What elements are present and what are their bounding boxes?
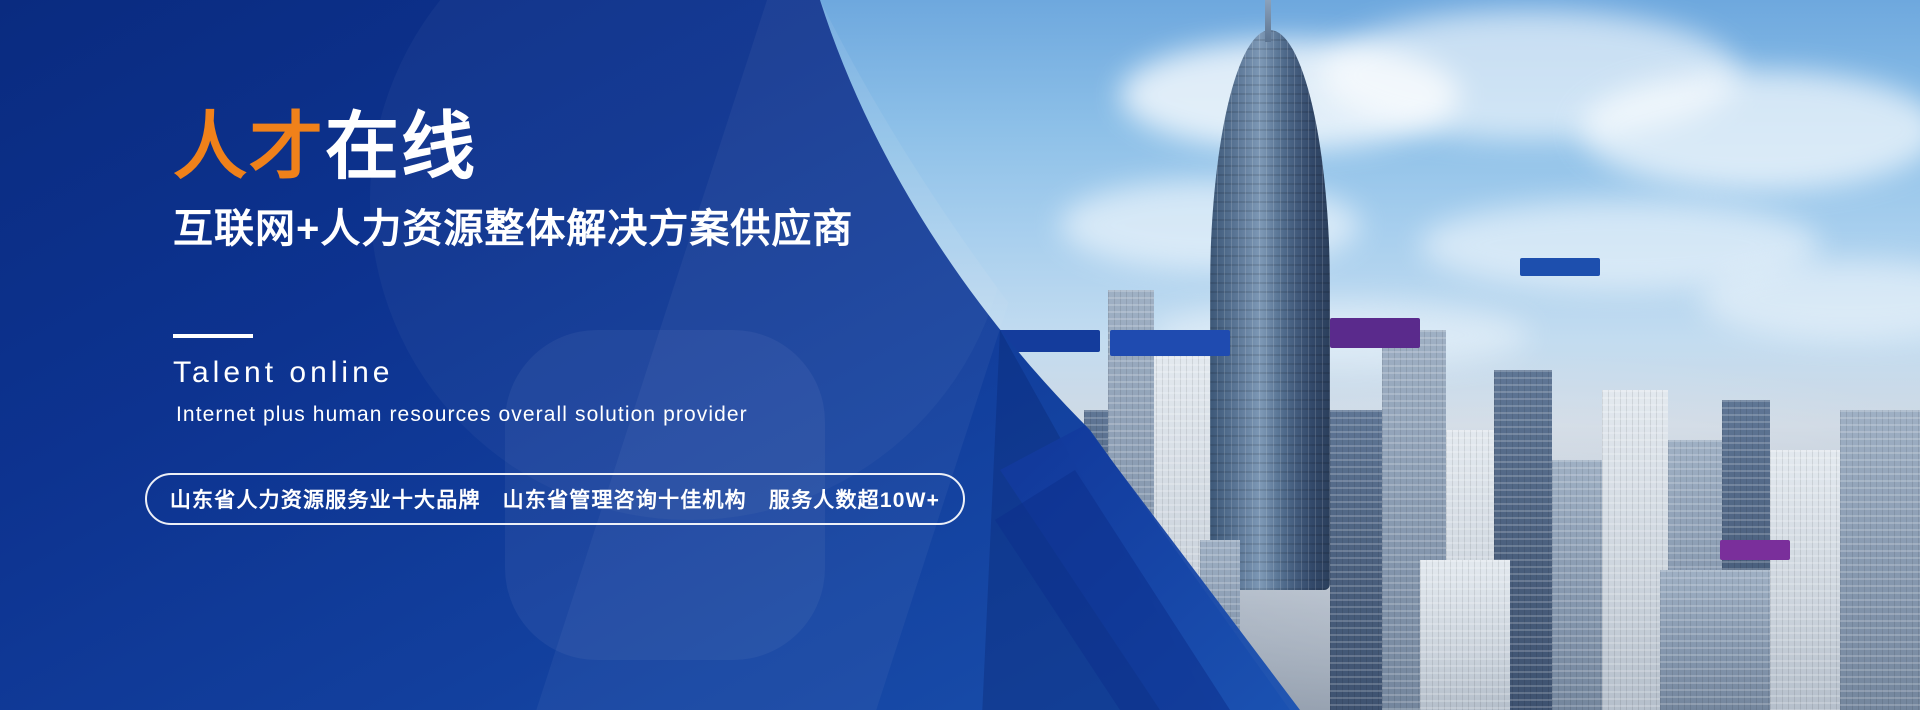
badge-item-2: 山东省管理咨询十佳机构: [503, 489, 747, 512]
page-title: 人才在线: [173, 110, 477, 184]
divider-rule: [173, 334, 253, 338]
credentials-badge: 山东省人力资源服务业十大品牌山东省管理咨询十佳机构服务人数超10W+: [145, 473, 965, 525]
page-subtitle: 互联网+人力资源整体解决方案供应商: [173, 196, 853, 254]
hero-banner: 人才在线 互联网+人力资源整体解决方案供应商 Talent online Int…: [0, 0, 1920, 710]
title-highlight: 人才: [173, 105, 325, 188]
title-rest: 在线: [325, 105, 477, 188]
badge-item-3: 服务人数超10W+: [769, 489, 940, 512]
banner-content: 人才在线 互联网+人力资源整体解决方案供应商 Talent online Int…: [0, 0, 1100, 710]
badge-item-1: 山东省人力资源服务业十大品牌: [170, 489, 481, 512]
credentials-text: 山东省人力资源服务业十大品牌山东省管理咨询十佳机构服务人数超10W+: [170, 484, 940, 514]
english-heading: Talent online: [173, 356, 393, 390]
english-subheading: Internet plus human resources overall so…: [176, 403, 748, 427]
